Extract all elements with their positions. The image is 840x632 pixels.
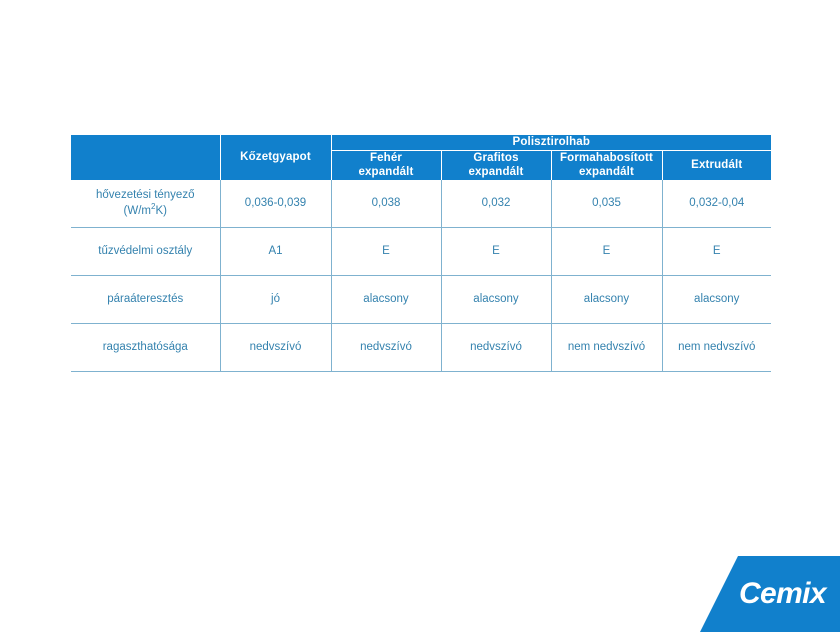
- cell-value: nem nedvszívó: [662, 324, 771, 372]
- cell-value: 0,036-0,039: [220, 180, 331, 228]
- cell-value: alacsony: [331, 276, 441, 324]
- cell-value: 0,032: [441, 180, 551, 228]
- cell-value: 0,038: [331, 180, 441, 228]
- cell-value: alacsony: [662, 276, 771, 324]
- cell-value: 0,035: [551, 180, 662, 228]
- row-label-tuzvedelmi-osztaly: tűzvédelmi osztály: [71, 228, 220, 276]
- row-label-line2: (W/m2K): [124, 205, 167, 217]
- cell-value: E: [551, 228, 662, 276]
- table-row: tűzvédelmi osztály A1 E E E E: [71, 228, 771, 276]
- header-formahabositott-expandalt-line2: expandált: [579, 166, 634, 178]
- row-label-unit-pre: (W/m: [124, 205, 151, 217]
- row-label-line1: hővezetési tényező: [96, 189, 194, 201]
- row-label-ragaszthatosaga: ragaszthatósága: [71, 324, 220, 372]
- table-header-group-row: Kőzetgyapot Polisztirolhab: [71, 135, 771, 150]
- header-corner-blank: [71, 135, 220, 180]
- cell-value: nedvszívó: [441, 324, 551, 372]
- cell-value: nedvszívó: [220, 324, 331, 372]
- header-feher-expandalt-line1: Fehér: [370, 152, 402, 164]
- row-label-hovezetesi-tenyezo: hővezetési tényező (W/m2K): [71, 180, 220, 228]
- header-kozetgyapot: Kőzetgyapot: [220, 135, 331, 180]
- cell-value: jó: [220, 276, 331, 324]
- row-label-unit-post: K): [155, 205, 167, 217]
- cell-value: E: [662, 228, 771, 276]
- table-header: Kőzetgyapot Polisztirolhab Fehér expandá…: [71, 135, 771, 180]
- header-feher-expandalt: Fehér expandált: [331, 150, 441, 180]
- row-label-paraateresztes: páraáteresztés: [71, 276, 220, 324]
- table-row: páraáteresztés jó alacsony alacsony alac…: [71, 276, 771, 324]
- header-formahabositott-expandalt: Formahabosított expandált: [551, 150, 662, 180]
- cell-value: A1: [220, 228, 331, 276]
- header-grafitos-expandalt-line1: Grafitos: [473, 152, 518, 164]
- insulation-comparison-table: Kőzetgyapot Polisztirolhab Fehér expandá…: [71, 135, 771, 372]
- table-body: hővezetési tényező (W/m2K) 0,036-0,039 0…: [71, 180, 771, 372]
- header-feher-expandalt-line2: expandált: [358, 166, 413, 178]
- cell-value: E: [331, 228, 441, 276]
- cell-value: nem nedvszívó: [551, 324, 662, 372]
- header-extrudalt: Extrudált: [662, 150, 771, 180]
- cell-value: 0,032-0,04: [662, 180, 771, 228]
- header-extrudalt-line1: Extrudált: [691, 159, 742, 171]
- cell-value: alacsony: [441, 276, 551, 324]
- table-row: hővezetési tényező (W/m2K) 0,036-0,039 0…: [71, 180, 771, 228]
- cemix-logo-wordmark: Cemix: [694, 556, 840, 632]
- cemix-logo: Cemix: [694, 556, 840, 632]
- cell-value: alacsony: [551, 276, 662, 324]
- header-polisztirolhab: Polisztirolhab: [331, 135, 771, 150]
- header-formahabositott-expandalt-line1: Formahabosított: [560, 152, 653, 164]
- cell-value: nedvszívó: [331, 324, 441, 372]
- header-grafitos-expandalt-line2: expandált: [468, 166, 523, 178]
- header-grafitos-expandalt: Grafitos expandált: [441, 150, 551, 180]
- table-row: ragaszthatósága nedvszívó nedvszívó nedv…: [71, 324, 771, 372]
- cell-value: E: [441, 228, 551, 276]
